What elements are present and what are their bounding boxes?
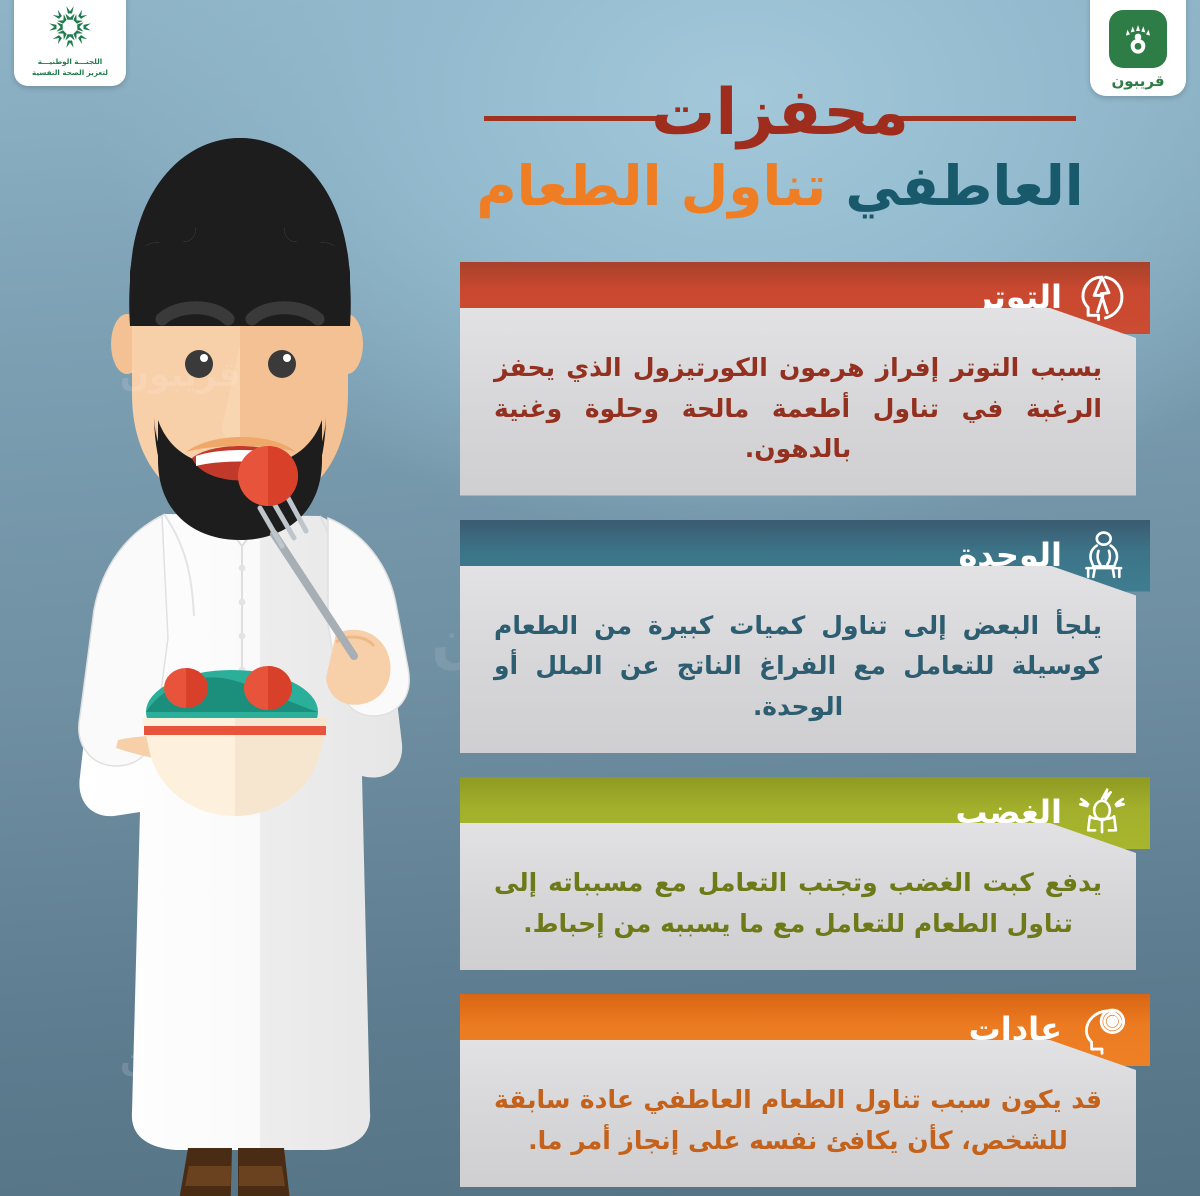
green-rosette-icon [44, 1, 96, 53]
card-habits-text: قد يكون سبب تناول الطعام العاطفي عادة سا… [494, 1080, 1102, 1161]
head-lightning-crack-icon [1076, 272, 1128, 324]
card-anger[interactable]: الغضب يدفع كبت الغضب وتجنب التعامل مع مس… [460, 777, 1150, 970]
title-word-mohafizat: محفزات [633, 81, 927, 145]
qaribon-figure-icon [1118, 19, 1158, 59]
person-sitting-alone-icon [1076, 530, 1128, 582]
cards-list: التوتر يسبب التوتر إفراز هرمون الكورتيزو… [460, 262, 1150, 1196]
card-loneliness[interactable]: الوحدة يلجأ البعض إلى تناول كميات كبيرة … [460, 520, 1150, 754]
card-anger-text: يدفع كبت الغضب وتجنب التعامل مع مسبباته … [494, 863, 1102, 944]
page-title: محفزات العاطفي تناول الطعام [420, 74, 1140, 216]
national-committee-logo[interactable]: اللجنـــة الوطنيـــة لتعزيز الصحة النفسي… [14, 0, 126, 86]
card-habits-body: قد يكون سبب تناول الطعام العاطفي عادة سا… [460, 1040, 1136, 1187]
qaribon-logo[interactable]: قريبون [1090, 0, 1186, 96]
angry-person-lightning-icon [1076, 787, 1128, 839]
card-habits[interactable]: عادات قد يكون سبب تناول الطعام العاطفي ع… [460, 994, 1150, 1187]
qaribon-icon-tile [1109, 10, 1167, 68]
title-word-alatifi: العاطفي [845, 154, 1083, 218]
card-loneliness-text: يلجأ البعض إلى تناول كميات كبيرة من الطع… [494, 606, 1102, 728]
committee-name-line2: لتعزيز الصحة النفسية [32, 68, 108, 78]
card-stress-body: يسبب التوتر إفراز هرمون الكورتيزول الذي … [460, 308, 1136, 496]
title-word-tanawul-altaam: تناول الطعام [476, 154, 826, 218]
head-spiral-icon [1076, 1004, 1128, 1056]
card-stress[interactable]: التوتر يسبب التوتر إفراز هرمون الكورتيزو… [460, 262, 1150, 496]
card-loneliness-body: يلجأ البعض إلى تناول كميات كبيرة من الطع… [460, 566, 1136, 754]
qaribon-label: قريبون [1111, 72, 1164, 90]
committee-name-line1: اللجنـــة الوطنيـــة [38, 57, 102, 67]
title-line-2: العاطفي تناول الطعام [420, 158, 1140, 216]
card-anger-body: يدفع كبت الغضب وتجنب التعامل مع مسبباته … [460, 823, 1136, 970]
title-line-1: محفزات [420, 74, 1140, 152]
infographic-canvas: قريبون قريبون قريبون محفزات العاطفي تناو… [0, 0, 1200, 1196]
card-stress-text: يسبب التوتر إفراز هرمون الكورتيزول الذي … [494, 348, 1102, 470]
man-eating-salad-illustration [36, 76, 466, 1196]
